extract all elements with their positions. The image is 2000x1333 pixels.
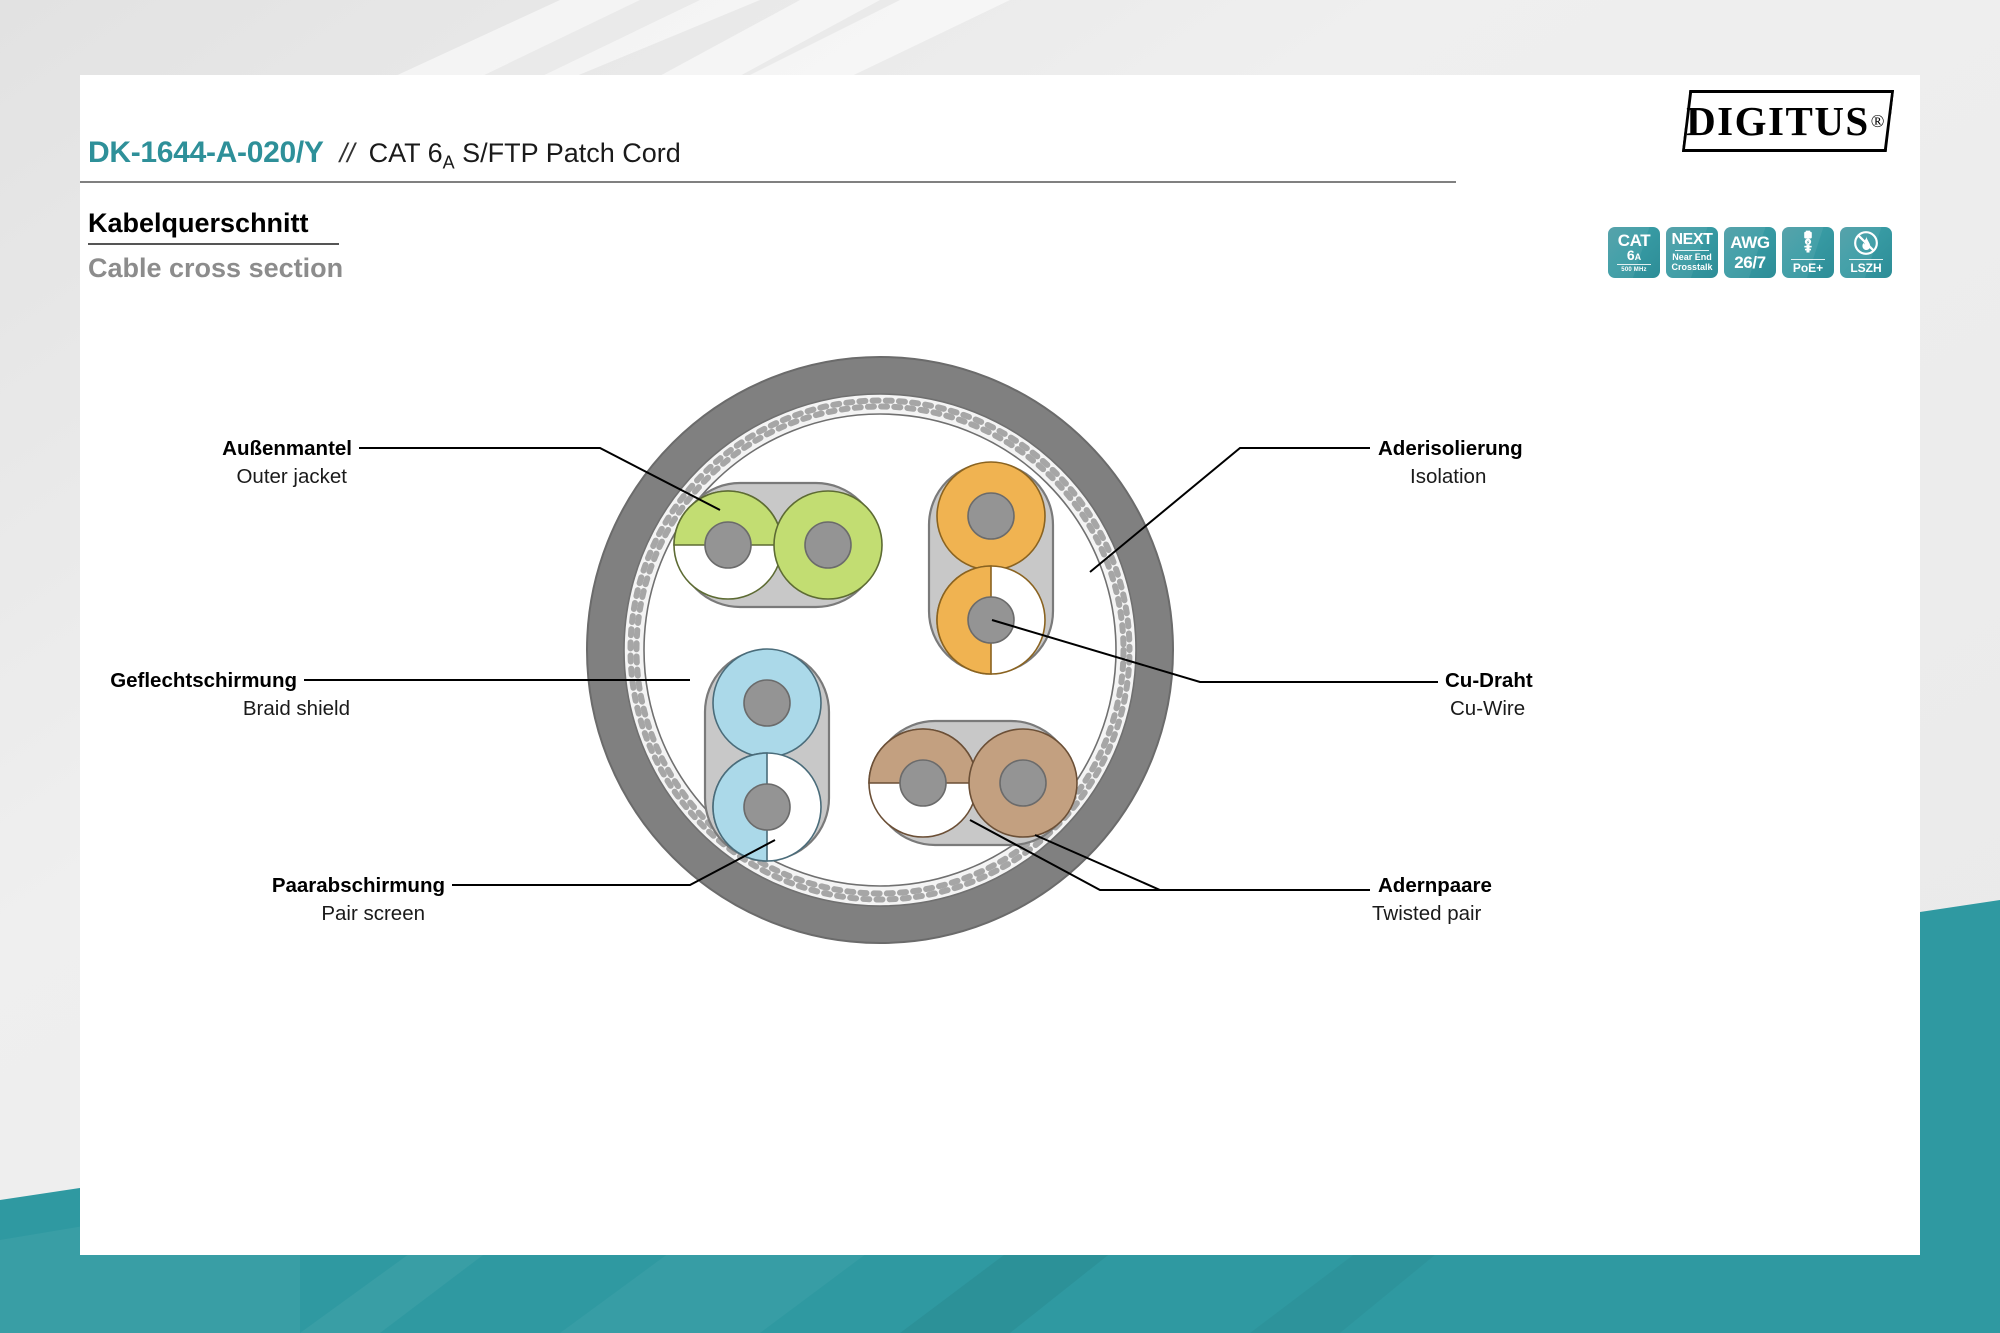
callout-isolation-en: Isolation xyxy=(1410,465,1486,488)
orange-pair xyxy=(929,462,1053,674)
cu-wire xyxy=(705,522,751,568)
conductor-orange-white xyxy=(937,566,1045,674)
brown-pair xyxy=(869,721,1077,845)
callout-braid-shield-de: Geflechtschirmung xyxy=(110,669,297,692)
cable-cross-section-diagram: Außenmantel Outer jacket Geflechtschirmu… xyxy=(80,75,1920,1255)
cu-wire xyxy=(900,760,946,806)
callout-isolation-de: Aderisolierung xyxy=(1378,437,1523,460)
conductor-green xyxy=(774,491,882,599)
blue-pair xyxy=(705,649,829,861)
conductor-brown-white xyxy=(869,729,977,837)
conductor-blue xyxy=(713,649,821,757)
callout-outer-jacket-en: Outer jacket xyxy=(236,465,347,488)
callout-twisted-pair-de: Adernpaare xyxy=(1378,874,1492,897)
cu-wire xyxy=(744,680,790,726)
callout-cu-wire-de: Cu-Draht xyxy=(1445,669,1533,692)
callout-pair-screen-en: Pair screen xyxy=(321,902,425,925)
callout-pair-screen-de: Paarabschirmung xyxy=(272,874,445,897)
cu-wire xyxy=(744,784,790,830)
callout-outer-jacket-de: Außenmantel xyxy=(222,437,352,460)
conductor-brown xyxy=(969,729,1077,837)
cu-wire xyxy=(805,522,851,568)
content-card: DIGITUS® DK-1644-A-020/Y // CAT 6A S/FTP… xyxy=(80,75,1920,1255)
cu-wire xyxy=(1000,760,1046,806)
callout-braid-shield-en: Braid shield xyxy=(243,697,350,720)
cu-wire xyxy=(968,493,1014,539)
cu-wire xyxy=(968,597,1014,643)
callout-twisted-pair-en: Twisted pair xyxy=(1372,902,1482,925)
callout-cu-wire-en: Cu-Wire xyxy=(1450,697,1525,720)
conductor-green-white xyxy=(674,491,782,599)
conductor-orange xyxy=(937,462,1045,570)
